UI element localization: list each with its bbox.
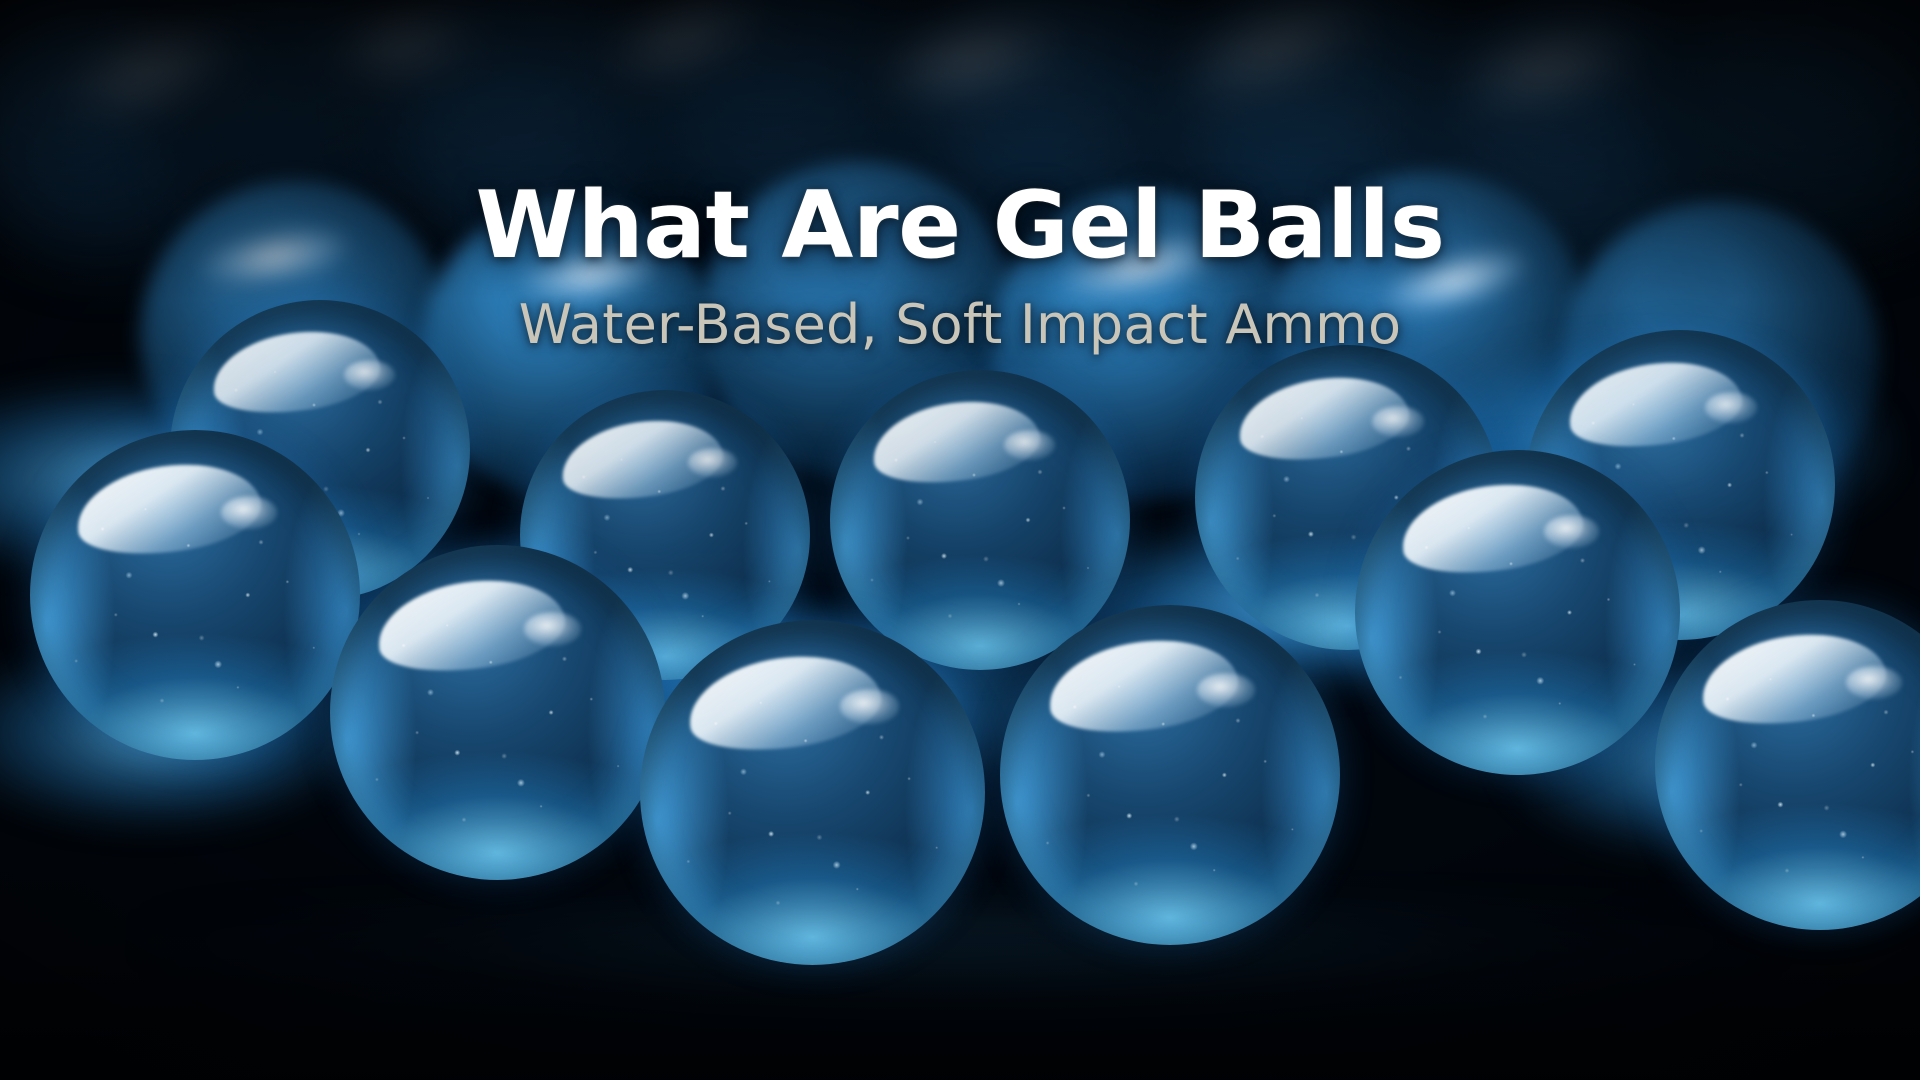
gel-ball-mid-right bbox=[1355, 450, 1680, 775]
water-droplets-overlay bbox=[830, 370, 1130, 670]
page-title: What Are Gel Balls bbox=[0, 178, 1920, 273]
gel-ball-front-3 bbox=[1000, 605, 1340, 945]
hero-banner: What Are Gel Balls Water-Based, Soft Imp… bbox=[0, 0, 1920, 1080]
gel-ball-front-2 bbox=[640, 620, 985, 965]
gel-ball-front-1 bbox=[330, 545, 665, 880]
gel-ball-back-center bbox=[830, 370, 1130, 670]
hero-text-block: What Are Gel Balls Water-Based, Soft Imp… bbox=[0, 178, 1920, 354]
page-subtitle: Water-Based, Soft Impact Ammo bbox=[0, 295, 1920, 354]
water-droplets-overlay bbox=[1000, 605, 1340, 945]
gel-ball-mid-left bbox=[30, 430, 360, 760]
water-droplets-overlay bbox=[30, 430, 360, 760]
water-droplets-overlay bbox=[1355, 450, 1680, 775]
gel-balls-photo bbox=[0, 0, 1920, 1080]
water-droplets-overlay bbox=[640, 620, 985, 965]
water-droplets-overlay bbox=[330, 545, 665, 880]
